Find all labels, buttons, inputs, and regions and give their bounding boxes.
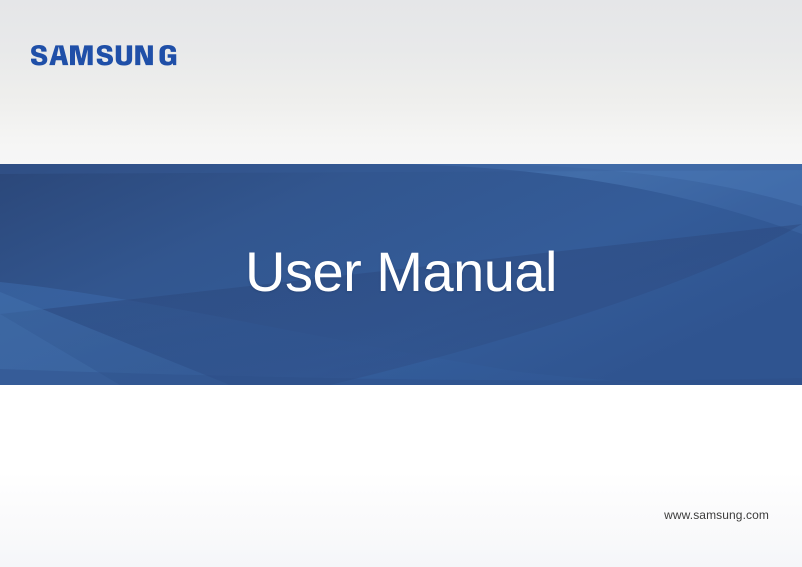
cover-banner: User Manual [0, 164, 802, 385]
footer-surface [0, 385, 802, 567]
website-url[interactable]: www.samsung.com [664, 509, 769, 521]
user-manual-cover-page: SAMSUNG [0, 0, 802, 567]
header-surface [0, 0, 802, 164]
page-title: User Manual [0, 164, 802, 385]
samsung-logo: SAMSUNG [29, 43, 179, 67]
